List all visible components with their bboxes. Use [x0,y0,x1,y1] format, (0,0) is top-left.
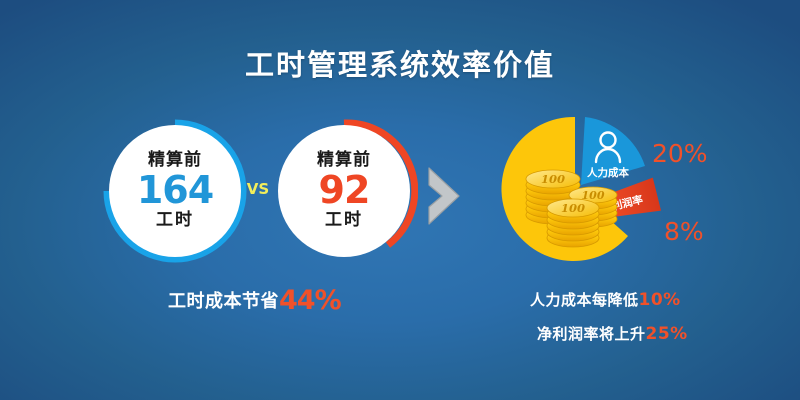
note-profit-rise-value: 25% [646,324,688,344]
pie-slice-labor-cost: 人力成本 [581,117,645,185]
infographic-canvas: 工时管理系统效率价值 精算前 164 工时 VS 精算前 92 工时 [0,0,800,400]
metric-value: 164 [137,171,213,211]
note-cost-saving-value: 44 [279,285,315,316]
callout-percent-labor: 20% [652,139,708,168]
note-profit-rise: 净利润率将上升25% [537,323,688,344]
note-cost-saving-text: 工时成本节省 [168,291,279,312]
metric-value: 92 [319,171,370,211]
versus-label: VS [244,180,272,198]
note-labor-cost-drop-value: 10% [639,290,681,310]
note-cost-saving-unit: % [315,285,341,316]
note-labor-cost-drop-text: 人力成本每降低 [530,291,639,309]
pie-slice-label-labor: 人力成本 [587,166,629,179]
metric-circle-body: 精算前 92 工时 [278,125,410,257]
coin-denomination: 100 [561,201,585,215]
chevron-right-icon [423,165,465,227]
metric-label-top: 精算前 [317,152,371,170]
metric-circle-before: 精算前 164 工时 [101,117,249,265]
coin-stack-front: 100 [547,199,599,247]
pie-chart: 人力成本 净利润率 100 [495,112,670,267]
page-title: 工时管理系统效率价值 [0,42,800,84]
coin-denomination: 100 [541,172,565,186]
metric-circle-body: 精算前 164 工时 [109,125,241,257]
note-profit-rise-text: 净利润率将上升 [537,325,646,343]
metric-circle-after: 精算前 92 工时 [270,117,418,265]
callout-percent-profit: 8% [664,217,704,246]
metric-label-unit: 工时 [325,212,363,230]
note-cost-saving: 工时成本节省44% [168,285,341,316]
metric-label-top: 精算前 [148,152,202,170]
metric-label-unit: 工时 [156,212,194,230]
note-labor-cost-drop: 人力成本每降低10% [530,289,681,310]
